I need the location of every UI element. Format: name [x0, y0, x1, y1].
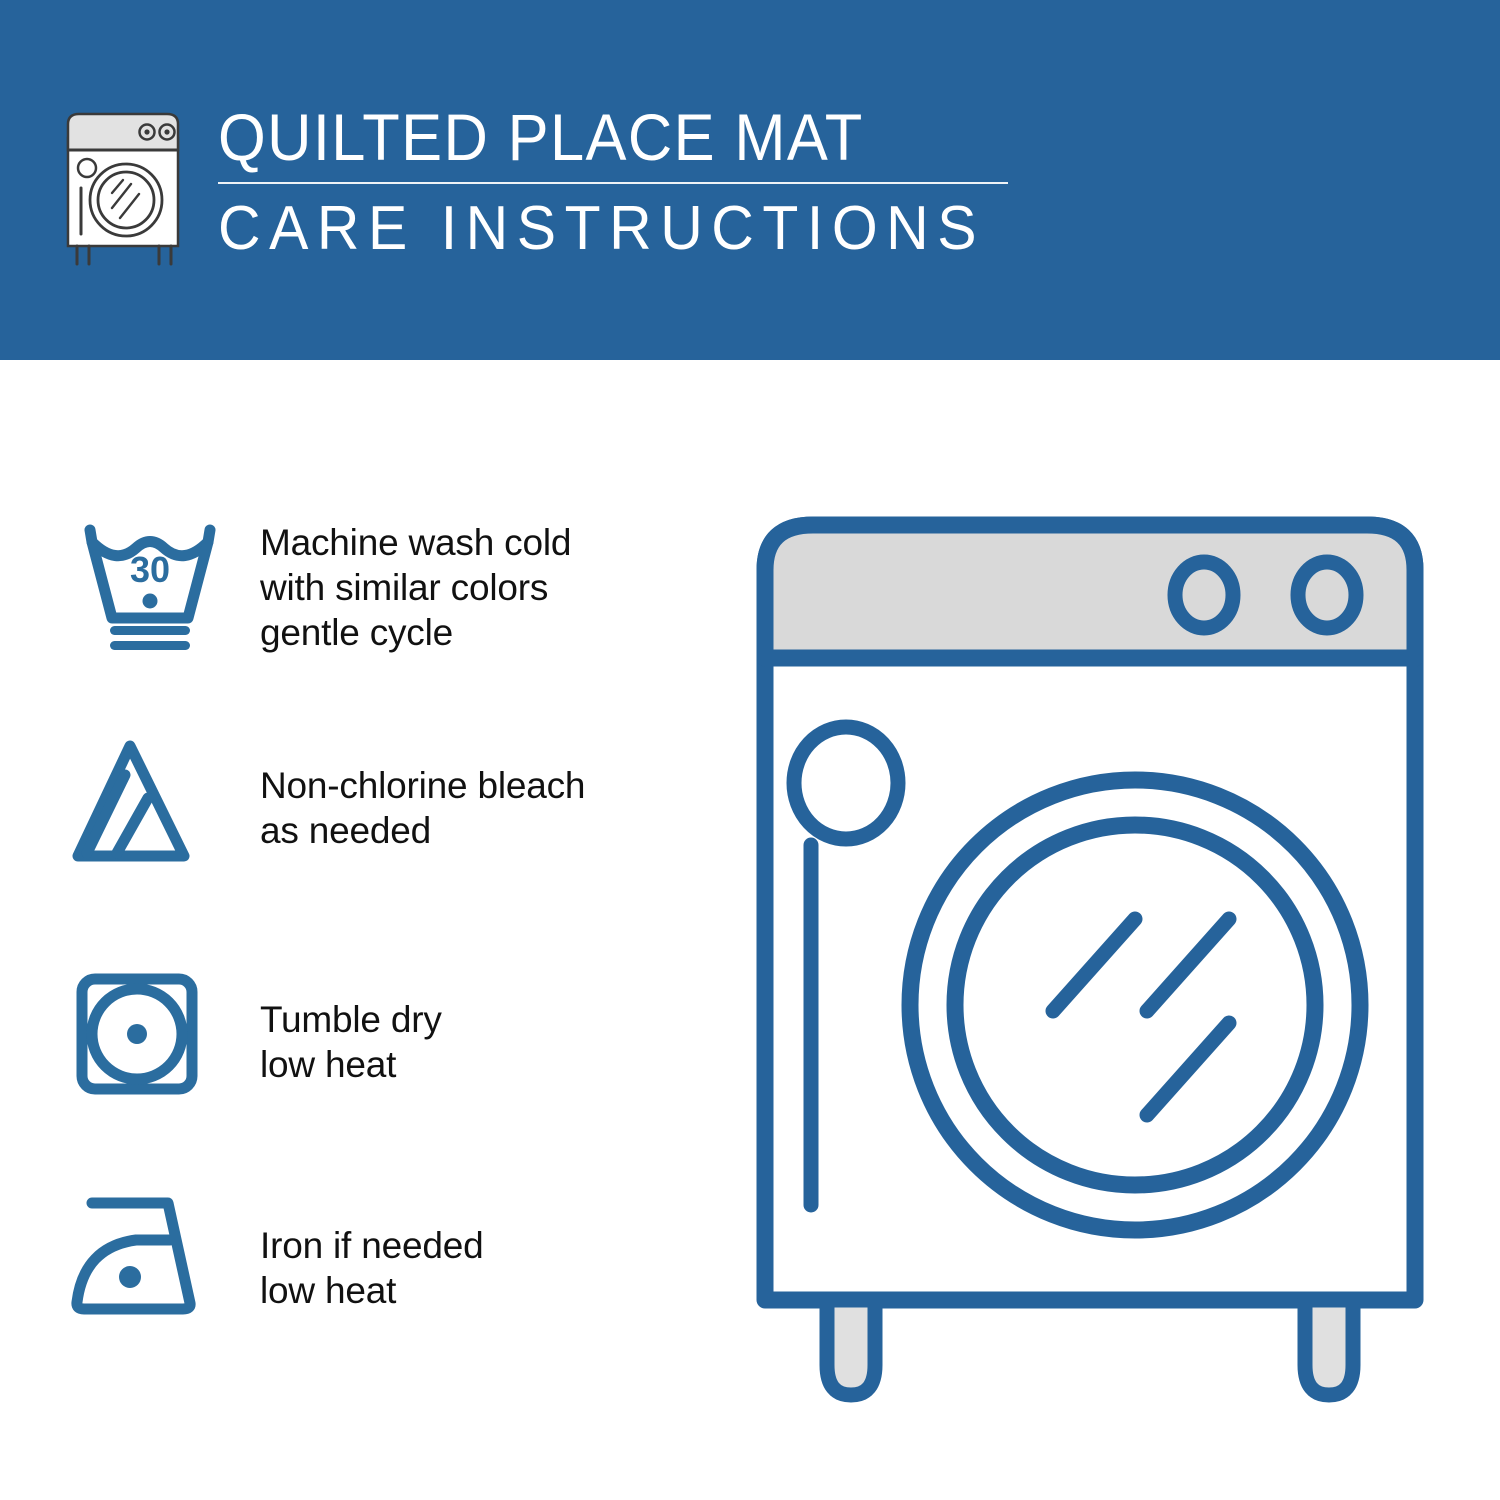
- header-text-block: QUILTED PLACE MAT CARE INSTRUCTIONS: [218, 100, 1018, 264]
- iron-low-heat-icon: [70, 1185, 230, 1335]
- non-chlorine-bleach-icon: [70, 728, 230, 878]
- header-banner: QUILTED PLACE MAT CARE INSTRUCTIONS: [0, 0, 1500, 360]
- leg-left: [827, 1300, 875, 1395]
- wash-dot: [143, 594, 158, 609]
- iron-heat-dot: [119, 1266, 141, 1288]
- care-row-dry: Tumble dry low heat: [70, 965, 710, 1115]
- front-load-washing-machine-illustration: [735, 495, 1445, 1425]
- care-text-dry: Tumble dry low heat: [260, 965, 710, 1087]
- dry-heat-dot: [127, 1024, 147, 1044]
- tumble-dry-low-heat-icon: [70, 965, 230, 1115]
- care-text-bleach: Non-chlorine bleach as needed: [260, 728, 710, 853]
- care-row-bleach: Non-chlorine bleach as needed: [70, 728, 710, 878]
- page-title: QUILTED PLACE MAT: [218, 100, 962, 174]
- control-panel: [765, 525, 1415, 658]
- care-instructions-page: QUILTED PLACE MAT CARE INSTRUCTIONS 30 M…: [0, 0, 1500, 1500]
- leg-right: [1305, 1300, 1353, 1395]
- washing-machine-icon: [63, 108, 188, 268]
- title-divider: [218, 182, 1008, 184]
- care-text-wash: Machine wash cold with similar colors ge…: [260, 508, 710, 655]
- care-text-iron: Iron if needed low heat: [260, 1185, 710, 1313]
- wash-temperature-label: 30: [130, 549, 170, 590]
- page-subtitle: CARE INSTRUCTIONS: [218, 194, 978, 264]
- care-row-iron: Iron if needed low heat: [70, 1185, 710, 1335]
- machine-wash-30-gentle-icon: 30: [70, 508, 230, 658]
- care-instruction-list: 30 Machine wash cold with similar colors…: [0, 360, 740, 1500]
- care-row-wash: 30 Machine wash cold with similar colors…: [70, 508, 710, 658]
